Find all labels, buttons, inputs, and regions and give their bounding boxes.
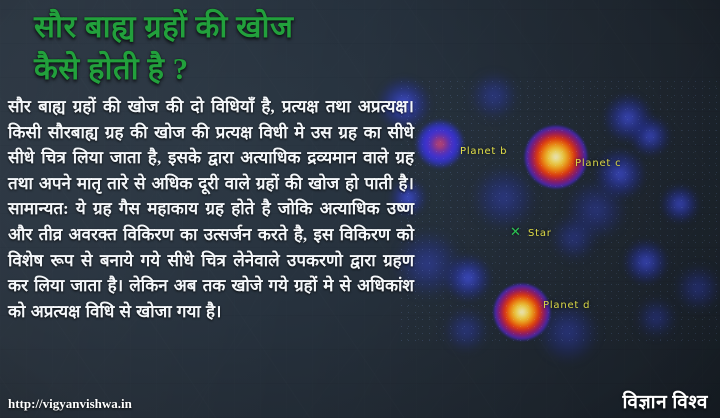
infographic-canvas: Planet bPlanet cPlanet d✕Star सौर बाह्य … bbox=[0, 0, 720, 418]
site-url[interactable]: http://vigyanvishwa.in bbox=[8, 396, 132, 412]
article-paragraph: सौर बाह्य ग्रहों की खोज की दो विधियाँ है… bbox=[8, 94, 414, 324]
brand-wordmark: विज्ञान विश्व bbox=[622, 388, 708, 414]
title-line-1: सौर बाह्य ग्रहों की खोज bbox=[34, 9, 294, 44]
title-line-2: कैसे होती है ? bbox=[34, 48, 414, 90]
page-title: सौर बाह्य ग्रहों की खोज कैसे होती है ? bbox=[34, 6, 414, 90]
